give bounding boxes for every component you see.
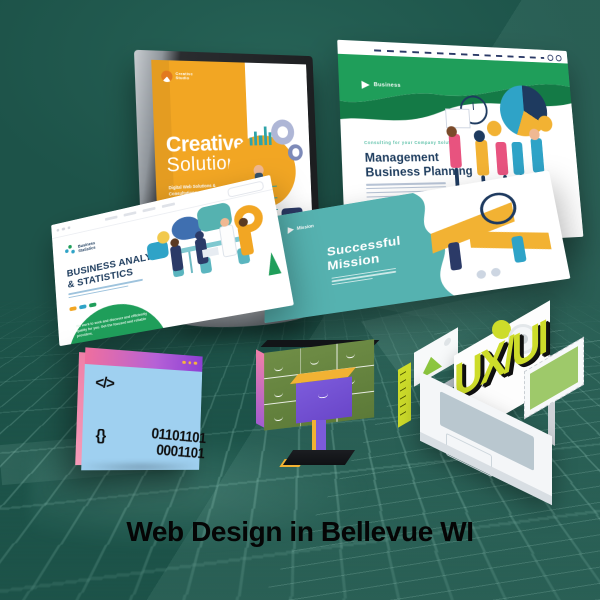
window-shadow: [77, 464, 200, 474]
arrow-icon: [361, 81, 369, 89]
person-figure: [495, 142, 508, 175]
site-logo: Creative Studio: [161, 70, 208, 82]
cabinet-stand-neck: [312, 420, 326, 454]
logo-mark-icon: [65, 244, 76, 257]
tag-pills: [69, 302, 96, 311]
control-dot: [555, 55, 561, 62]
open-drawer[interactable]: [296, 377, 352, 424]
window-control-dots[interactable]: [182, 360, 197, 365]
bar-chart-icon: [249, 124, 272, 146]
binary-line-2: 0001101: [149, 442, 205, 462]
window-controls[interactable]: [547, 55, 562, 62]
ux-ui-laptop[interactable]: UX/UI: [392, 318, 600, 500]
person-figure: [448, 242, 462, 271]
ribbon-shape: [469, 232, 552, 250]
plant-icon: [265, 251, 282, 276]
control-dot: [547, 55, 553, 62]
person-figure: [530, 138, 544, 172]
document-icon: [445, 108, 471, 128]
card-logo: Business: [361, 81, 401, 90]
logo-mark-icon: [161, 70, 173, 82]
drawer-handle[interactable]: [318, 394, 328, 399]
dot-marker: [476, 269, 486, 279]
speech-bubble: [146, 240, 169, 261]
card-logo: Business Statistics: [65, 235, 112, 257]
arrow-icon: [288, 226, 294, 234]
sun-icon: [444, 336, 451, 347]
table-leg: [188, 251, 193, 273]
poster-canvas: Business Consulting for your Company Sol…: [0, 0, 600, 600]
laptop-icon: [202, 247, 219, 258]
cabinet-foot: [283, 450, 355, 465]
code-editor-window[interactable]: </> {} 01101101 0001101: [81, 347, 202, 470]
gear-icon: [271, 119, 295, 144]
person-figure: [219, 224, 238, 258]
page-title: Web Design in Bellevue WI: [0, 516, 600, 548]
ruler-icon: [398, 362, 411, 428]
window-dots[interactable]: [57, 226, 71, 232]
person-figure: [473, 130, 485, 142]
file-cabinet[interactable]: [252, 338, 386, 488]
dot-marker: [491, 267, 502, 277]
logo-text: Business Statistics: [78, 237, 111, 253]
lightbulb-icon: [486, 121, 502, 137]
logo-text: Creative Studio: [175, 72, 207, 82]
person-figure: [511, 142, 524, 175]
binary-text: 01101101 0001101: [149, 426, 206, 462]
logo-text: Business: [374, 82, 401, 89]
person-figure: [446, 126, 457, 137]
coin-icon: [537, 116, 553, 132]
person-figure: [449, 134, 462, 168]
code-area[interactable]: </> {} 01101101 0001101: [81, 364, 202, 470]
code-brace-icon: {}: [95, 427, 105, 445]
person-figure: [529, 129, 540, 140]
code-tag-icon: </>: [95, 374, 114, 392]
lightbulb-icon: [157, 230, 171, 245]
person-figure: [475, 140, 489, 175]
card-illustration: [421, 179, 565, 293]
gear-icon: [288, 144, 303, 161]
